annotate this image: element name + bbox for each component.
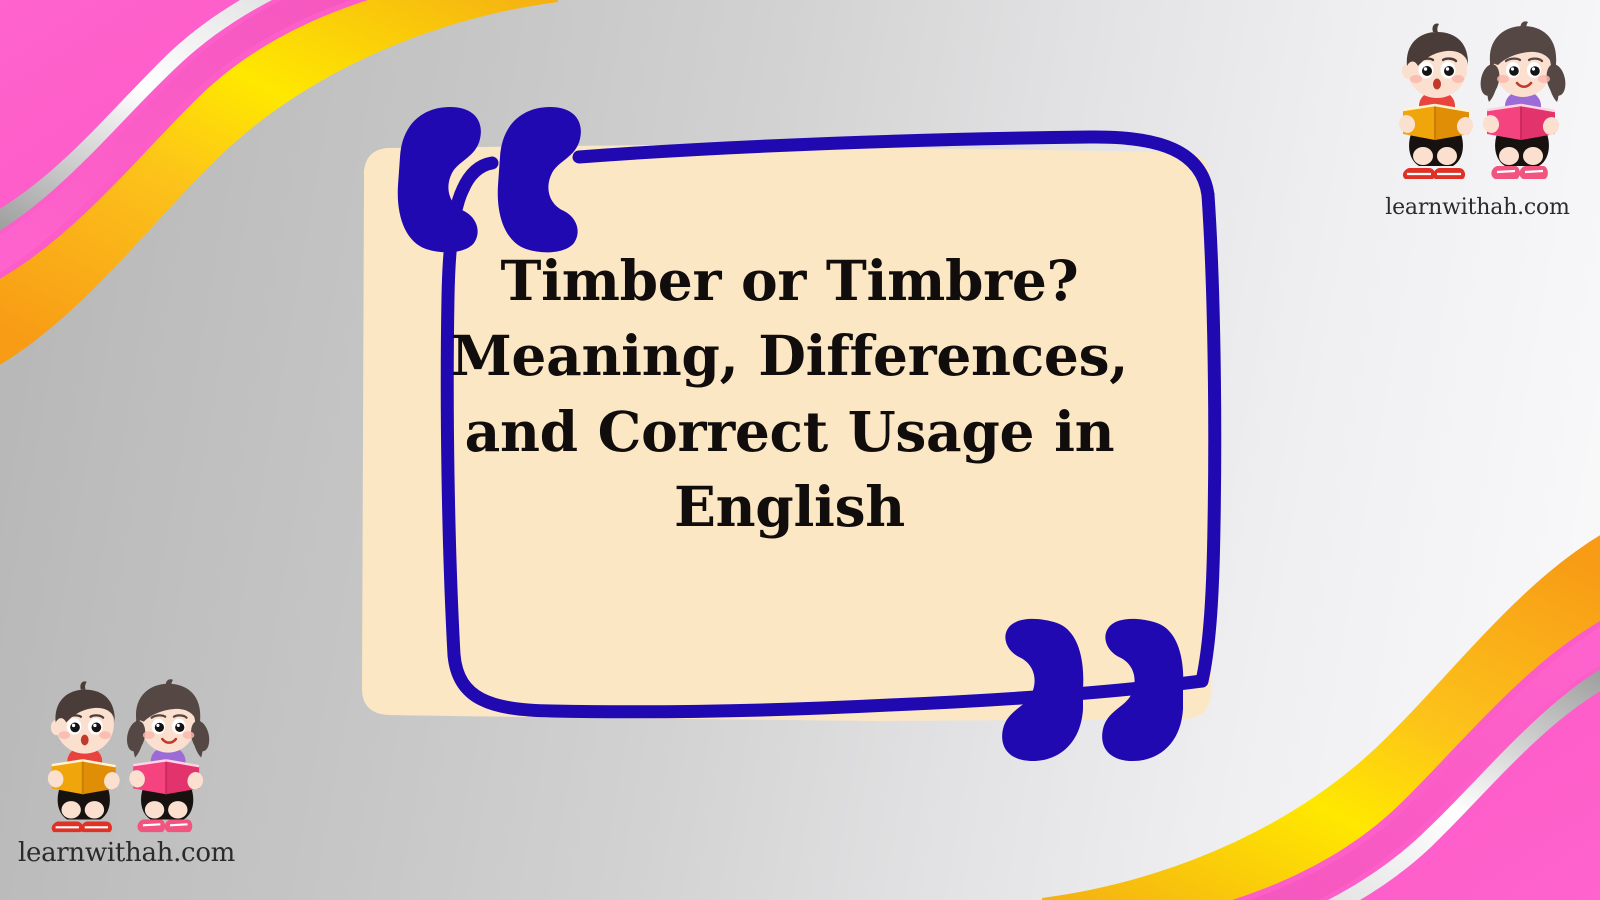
brand-url-bottom[interactable]: learnwithah.com [18,838,235,868]
title-line-2: Meaning, Differences, [402,318,1177,393]
poster-canvas: Timber or Timbre? Meaning, Differences, … [0,0,1600,900]
open-quote-icon [380,105,595,255]
brand-url-top[interactable]: learnwithah.com [1385,195,1570,220]
brand-logo-bottom-left: learnwithah.com [18,676,235,868]
brand-logo-top-right: learnwithah.com [1385,18,1570,220]
title-line-3: and Correct Usage in [402,394,1177,469]
page-title: Timber or Timbre? Meaning, Differences, … [402,243,1177,544]
close-quote-icon [985,615,1200,775]
title-line-4: English [402,469,1177,544]
kids-reading-icon [18,676,235,836]
kids-reading-icon [1385,18,1570,193]
quote-card: Timber or Timbre? Meaning, Differences, … [330,115,1245,735]
title-line-1: Timber or Timbre? [402,243,1177,318]
